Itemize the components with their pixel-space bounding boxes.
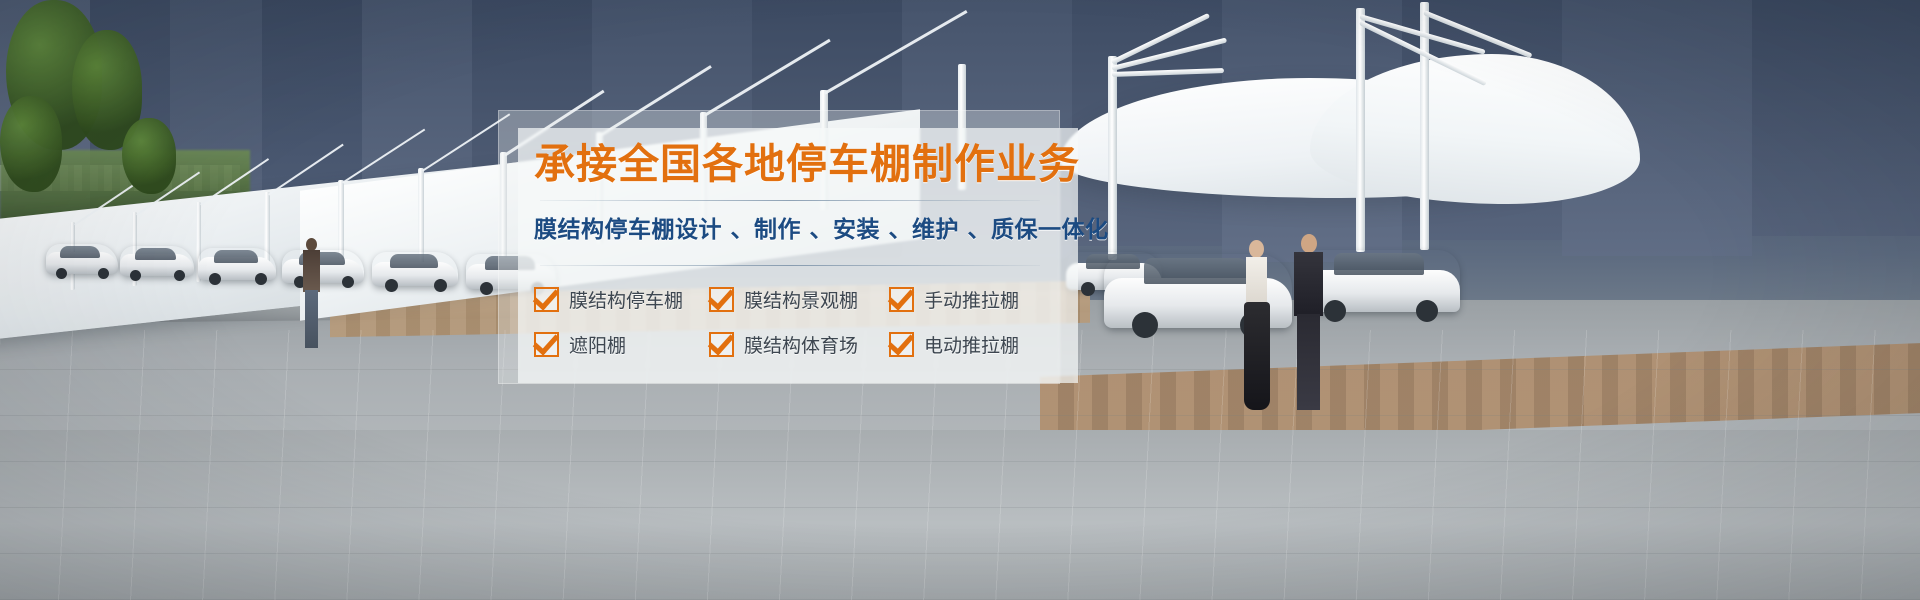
feature-item[interactable]: 遮阳棚: [534, 331, 709, 358]
feature-label: 膜结构景观棚: [744, 286, 858, 313]
check-icon: [889, 332, 914, 357]
feature-item[interactable]: 膜结构体育场: [709, 331, 889, 358]
building-silhouette: [1752, 0, 1920, 236]
canopy-mast: [1420, 2, 1429, 250]
feature-label: 手动推拉棚: [924, 286, 1019, 313]
parked-car: [120, 246, 194, 276]
feature-row: 膜结构停车棚 膜结构景观棚 手动推拉棚: [534, 277, 1054, 322]
feature-row: 遮阳棚 膜结构体育场 电动推拉棚: [534, 322, 1054, 367]
feature-list: 膜结构停车棚 膜结构景观棚 手动推拉棚 遮阳棚 膜结构体育场 电动推拉: [534, 277, 1054, 367]
feature-label: 电动推拉棚: [924, 331, 1019, 358]
feature-item[interactable]: 手动推拉棚: [889, 286, 1054, 313]
divider-line-top: [540, 200, 1040, 201]
feature-item[interactable]: 膜结构景观棚: [709, 286, 889, 313]
hero-banner: 承接全国各地停车棚制作业务 膜结构停车棚设计 、制作 、安装 、维护 、质保一体…: [0, 0, 1920, 600]
feature-item[interactable]: 电动推拉棚: [889, 331, 1054, 358]
check-icon: [709, 332, 734, 357]
check-icon: [534, 332, 559, 357]
feature-item[interactable]: 膜结构停车棚: [534, 286, 709, 313]
feature-label: 遮阳棚: [569, 331, 626, 358]
check-icon: [709, 287, 734, 312]
tree-icon: [122, 118, 176, 194]
pedestrian-figure-woman: [1236, 240, 1276, 412]
feature-label: 膜结构体育场: [744, 331, 858, 358]
pedestrian-figure: [296, 238, 326, 350]
feature-label: 膜结构停车棚: [569, 286, 683, 313]
check-icon: [889, 287, 914, 312]
canopy-mast: [1108, 56, 1117, 260]
banner-subheadline: 膜结构停车棚设计 、制作 、安装 、维护 、质保一体化: [534, 210, 1054, 244]
pedestrian-figure-man: [1286, 234, 1330, 412]
divider-line-bottom: [540, 265, 1040, 266]
parked-car: [372, 252, 458, 286]
banner-headline: 承接全国各地停车棚制作业务: [534, 140, 1054, 189]
tree-icon: [0, 96, 62, 192]
check-icon: [534, 287, 559, 312]
parked-car: [198, 248, 276, 280]
parked-car: [46, 244, 118, 274]
canopy-mast: [1356, 8, 1365, 252]
